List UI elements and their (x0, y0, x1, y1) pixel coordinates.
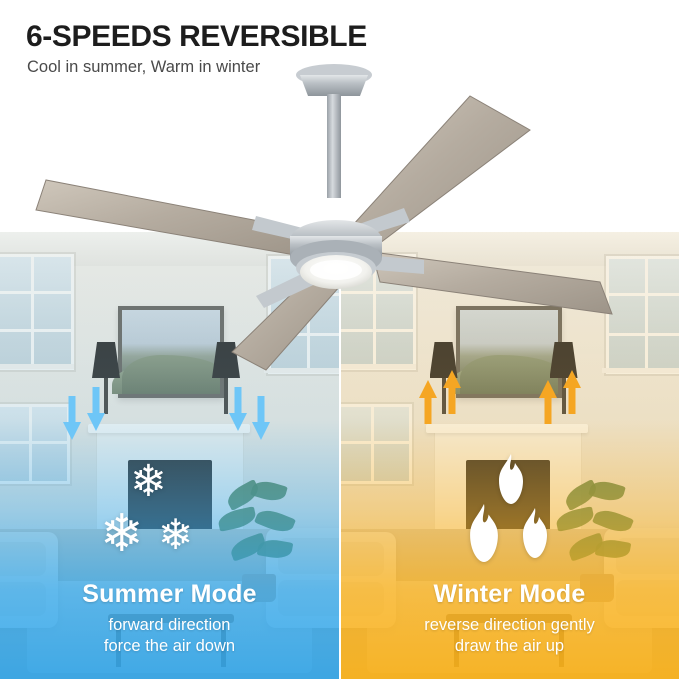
snowflake-icon-3: ❄ (158, 514, 193, 556)
window-right-right (606, 256, 679, 374)
window-left-far (0, 254, 74, 370)
airflow-arrow-up-3 (538, 380, 558, 424)
window-sill-left-far (0, 364, 74, 369)
flame-icon-1 (492, 454, 530, 508)
airflow-arrow-up-4 (562, 370, 582, 414)
snowflake-icon-1: ❄ (130, 460, 167, 504)
flame-icon-3 (516, 508, 554, 562)
summer-mode-caption: Summer Mode forward direction force the … (0, 580, 339, 657)
summer-mode-title: Summer Mode (0, 580, 339, 609)
window-left-right (268, 256, 340, 374)
page-subtitle: Cool in summer, Warm in winter (27, 58, 260, 77)
window-right-lower (340, 404, 412, 484)
airflow-arrow-up-1 (418, 380, 438, 424)
winter-mode-line2: draw the air up (340, 636, 679, 657)
airflow-arrow-down-1 (62, 396, 82, 440)
wall-painting-left (118, 306, 224, 398)
room-photo: ❄ ❄ ❄ (0, 232, 679, 679)
window-left-lower (0, 404, 70, 484)
window-sill-right-far (340, 364, 416, 369)
fireplace-mantel-right (426, 424, 588, 433)
lamp-shade-left-a (92, 342, 120, 378)
window-sill-right-right (602, 368, 679, 373)
winter-mode-title: Winter Mode (340, 580, 679, 609)
window-sill-left-right (264, 368, 340, 373)
airflow-arrow-down-2 (86, 387, 106, 431)
page-title: 6-SPEEDS REVERSIBLE (26, 20, 367, 54)
winter-mode-line1: reverse direction gently (340, 615, 679, 636)
product-lifestyle-image: 6-SPEEDS REVERSIBLE Cool in summer, Warm… (0, 0, 679, 679)
summer-mode-line1: forward direction (0, 615, 339, 636)
flame-icon-2 (462, 504, 506, 566)
fireplace-mantel-left (88, 424, 250, 433)
airflow-arrow-down-3 (228, 387, 248, 431)
airflow-arrow-down-4 (251, 396, 271, 440)
snowflake-icon-2: ❄ (100, 508, 144, 560)
airflow-arrow-up-2 (442, 370, 462, 414)
winter-mode-caption: Winter Mode reverse direction gently dra… (340, 580, 679, 657)
window-right-far (340, 254, 416, 370)
summer-mode-line2: force the air down (0, 636, 339, 657)
header-band: 6-SPEEDS REVERSIBLE Cool in summer, Warm… (0, 0, 679, 232)
